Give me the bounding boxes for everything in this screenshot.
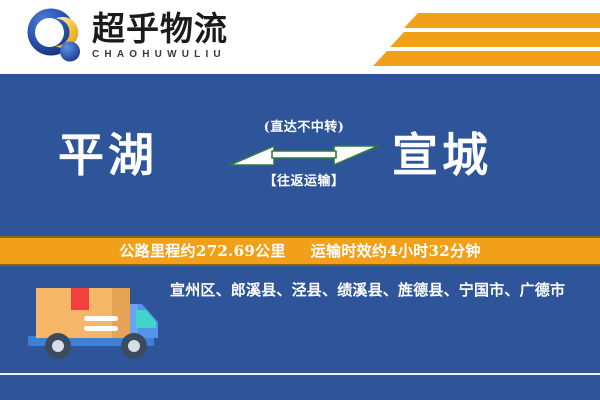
coverage-section: 宣州区、郎溪县、泾县、绩溪县、旌德县、宁国市、广德市 (0, 266, 600, 373)
circle-q-logo-icon (26, 7, 84, 65)
coverage-areas-list: 宣州区、郎溪县、泾县、绩溪县、旌德县、宁国市、广德市 (170, 278, 588, 303)
banner-header: 超乎物流 CHAOHUWULIU (0, 0, 600, 74)
bidirectional-arrow-icon (228, 139, 380, 171)
route-section: 平湖 (直达不中转) 【往返运输】 宣城 (0, 74, 600, 236)
brand-logo: 超乎物流 CHAOHUWULIU (26, 7, 228, 65)
origin-city: 平湖 (58, 129, 158, 181)
decorative-stripes (330, 8, 600, 66)
destination-city: 宣城 (392, 129, 492, 181)
route-info-text: 公路里程约272.69公里 运输时效约4小时32分钟 (119, 242, 480, 260)
direct-route-note: (直达不中转) (264, 120, 345, 136)
duration-label: 运输时效约4小时32分钟 (311, 242, 481, 260)
brand-text: 超乎物流 CHAOHUWULIU (92, 11, 228, 62)
route-info-bar: 公路里程约272.69公里 运输时效约4小时32分钟 (0, 236, 600, 266)
brand-name-en: CHAOHUWULIU (92, 48, 228, 62)
logistics-route-banner: 超乎物流 CHAOHUWULIU 平湖 (直达不中转) (0, 0, 600, 400)
footer-strip (0, 375, 600, 400)
delivery-truck-icon (24, 278, 164, 366)
route-middle: (直达不中转) 【往返运输】 (228, 120, 380, 190)
distance-label: 公路里程约272.69公里 (119, 242, 285, 260)
brand-name-cn: 超乎物流 (92, 11, 228, 47)
round-trip-note: 【往返运输】 (263, 174, 344, 190)
